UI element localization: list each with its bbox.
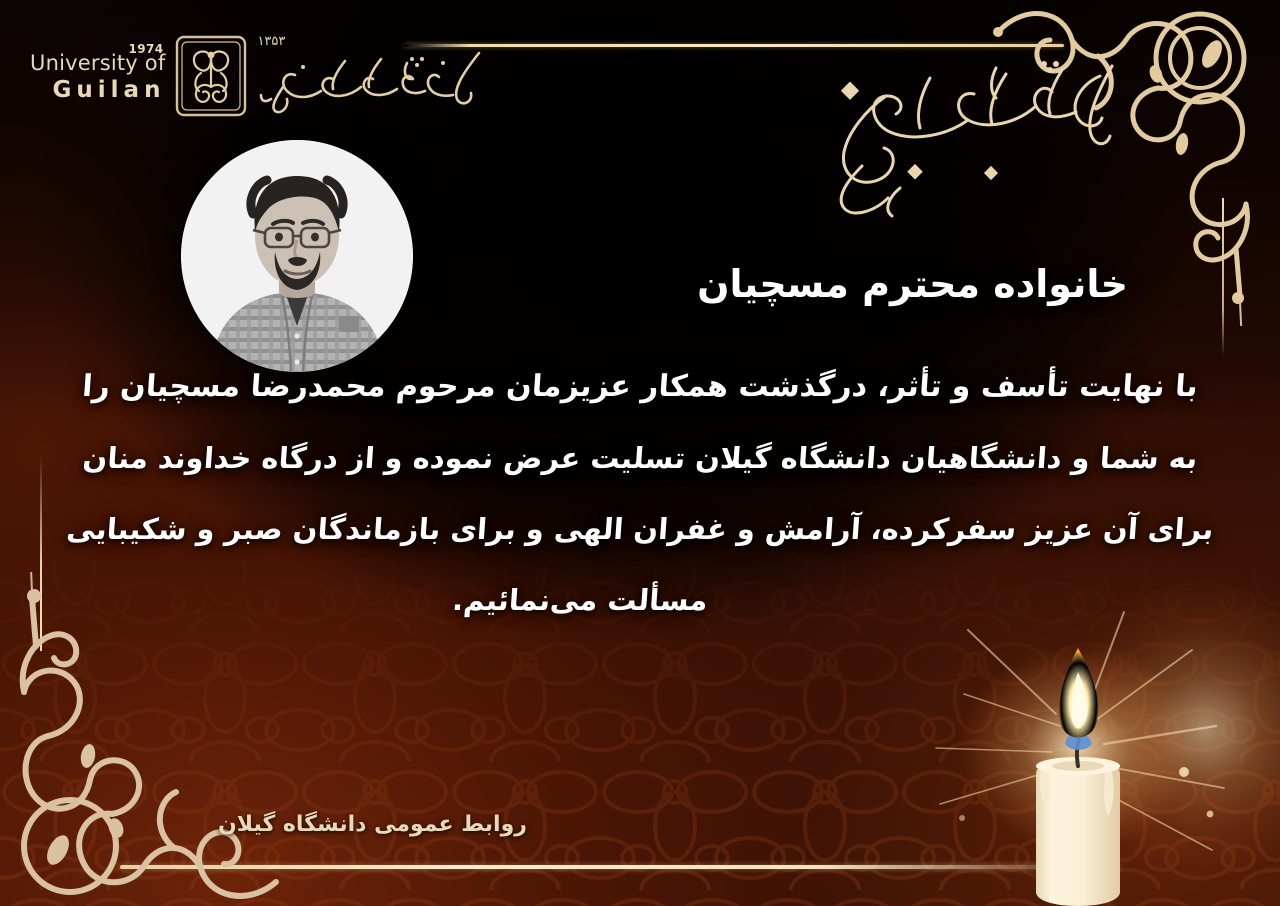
arabesque-ornament-icon <box>0 572 292 906</box>
logo-persian-calligraphy <box>257 45 487 117</box>
logo-persian-block: ۱۳۵۳ <box>257 34 487 117</box>
message-line-2: به شما و دانشگاهیان دانشگاه گیلان تسلیت … <box>33 444 1247 473</box>
candle-icon <box>928 576 1228 906</box>
logo-name-line2: Guilan <box>53 79 166 102</box>
signature-public-relations: روابط عمومی دانشگاه گیلان <box>218 812 527 837</box>
arabic-calligraphy-inna-lillahi <box>800 48 1130 228</box>
message-line-1: با نهایت تأسف و تأثر، درگذشت همکار عزیزم… <box>33 372 1247 402</box>
logo-name-line1: University of <box>30 53 165 74</box>
top-gold-rule <box>404 44 1064 47</box>
condolence-poster: 1974 University of Guilan <box>0 0 1280 906</box>
university-logo: 1974 University of Guilan <box>30 34 487 117</box>
message-line-3: برای آن عزیز سفرکرده، آرامش و غفران الهی… <box>33 515 1247 544</box>
logo-year-gregorian: 1974 <box>128 43 163 55</box>
page-title: خانواده محترم مسچیان <box>697 262 1128 306</box>
avatar <box>181 140 413 372</box>
logo-english-text: 1974 University of Guilan <box>30 49 165 102</box>
university-emblem-icon <box>175 35 247 117</box>
